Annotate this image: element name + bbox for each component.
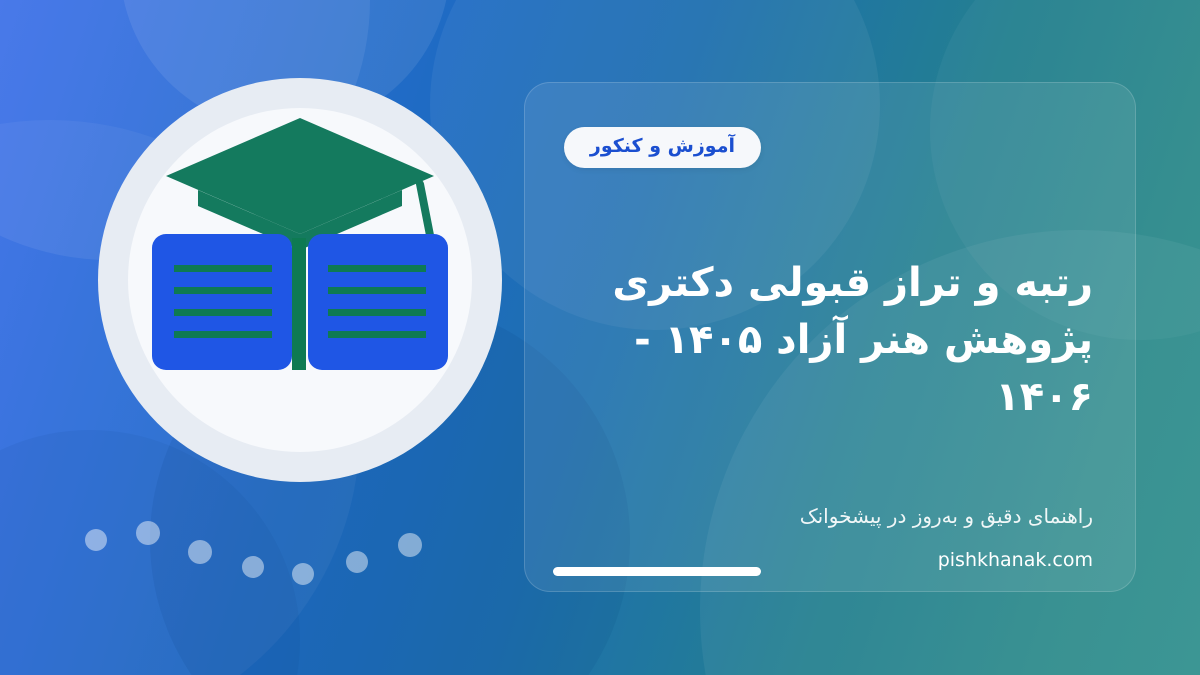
book-line bbox=[328, 331, 426, 338]
page-subtitle: راهنمای دقیق و به‌روز در پیشخوانک bbox=[593, 501, 1093, 531]
book-left-page-icon bbox=[152, 234, 292, 370]
graduation-cap-book-icon bbox=[98, 78, 502, 482]
book-spine-icon bbox=[292, 238, 306, 370]
cap-top-icon bbox=[166, 118, 434, 234]
decorative-dot bbox=[346, 551, 368, 573]
book-line bbox=[174, 287, 272, 294]
category-badge[interactable]: آموزش و کنکور bbox=[564, 127, 761, 168]
book-line bbox=[174, 265, 272, 272]
book-line bbox=[174, 309, 272, 316]
decorative-dot bbox=[136, 521, 160, 545]
book-line bbox=[174, 331, 272, 338]
decorative-dot bbox=[242, 556, 264, 578]
decorative-dot bbox=[292, 563, 314, 585]
page-title-line: رتبه و تراز قبولی دکتری bbox=[593, 255, 1093, 312]
book-line bbox=[328, 265, 426, 272]
book-line bbox=[328, 309, 426, 316]
accent-bar bbox=[553, 567, 761, 576]
decorative-dot bbox=[188, 540, 212, 564]
content-card: آموزش و کنکور رتبه و تراز قبولی دکتری پژ… bbox=[524, 82, 1136, 592]
decorative-dot bbox=[398, 533, 422, 557]
book-right-page-icon bbox=[308, 234, 448, 370]
page-title-line: پژوهش هنر آزاد ۱۴۰۵ - bbox=[593, 312, 1093, 369]
book-line bbox=[328, 287, 426, 294]
page-title-line: ۱۴۰۶ bbox=[593, 369, 1093, 426]
page-title: رتبه و تراز قبولی دکتری پژوهش هنر آزاد ۱… bbox=[593, 255, 1093, 425]
banner-canvas: آموزش و کنکور رتبه و تراز قبولی دکتری پژ… bbox=[0, 0, 1200, 675]
decorative-dot bbox=[85, 529, 107, 551]
icon-medallion bbox=[98, 78, 502, 482]
